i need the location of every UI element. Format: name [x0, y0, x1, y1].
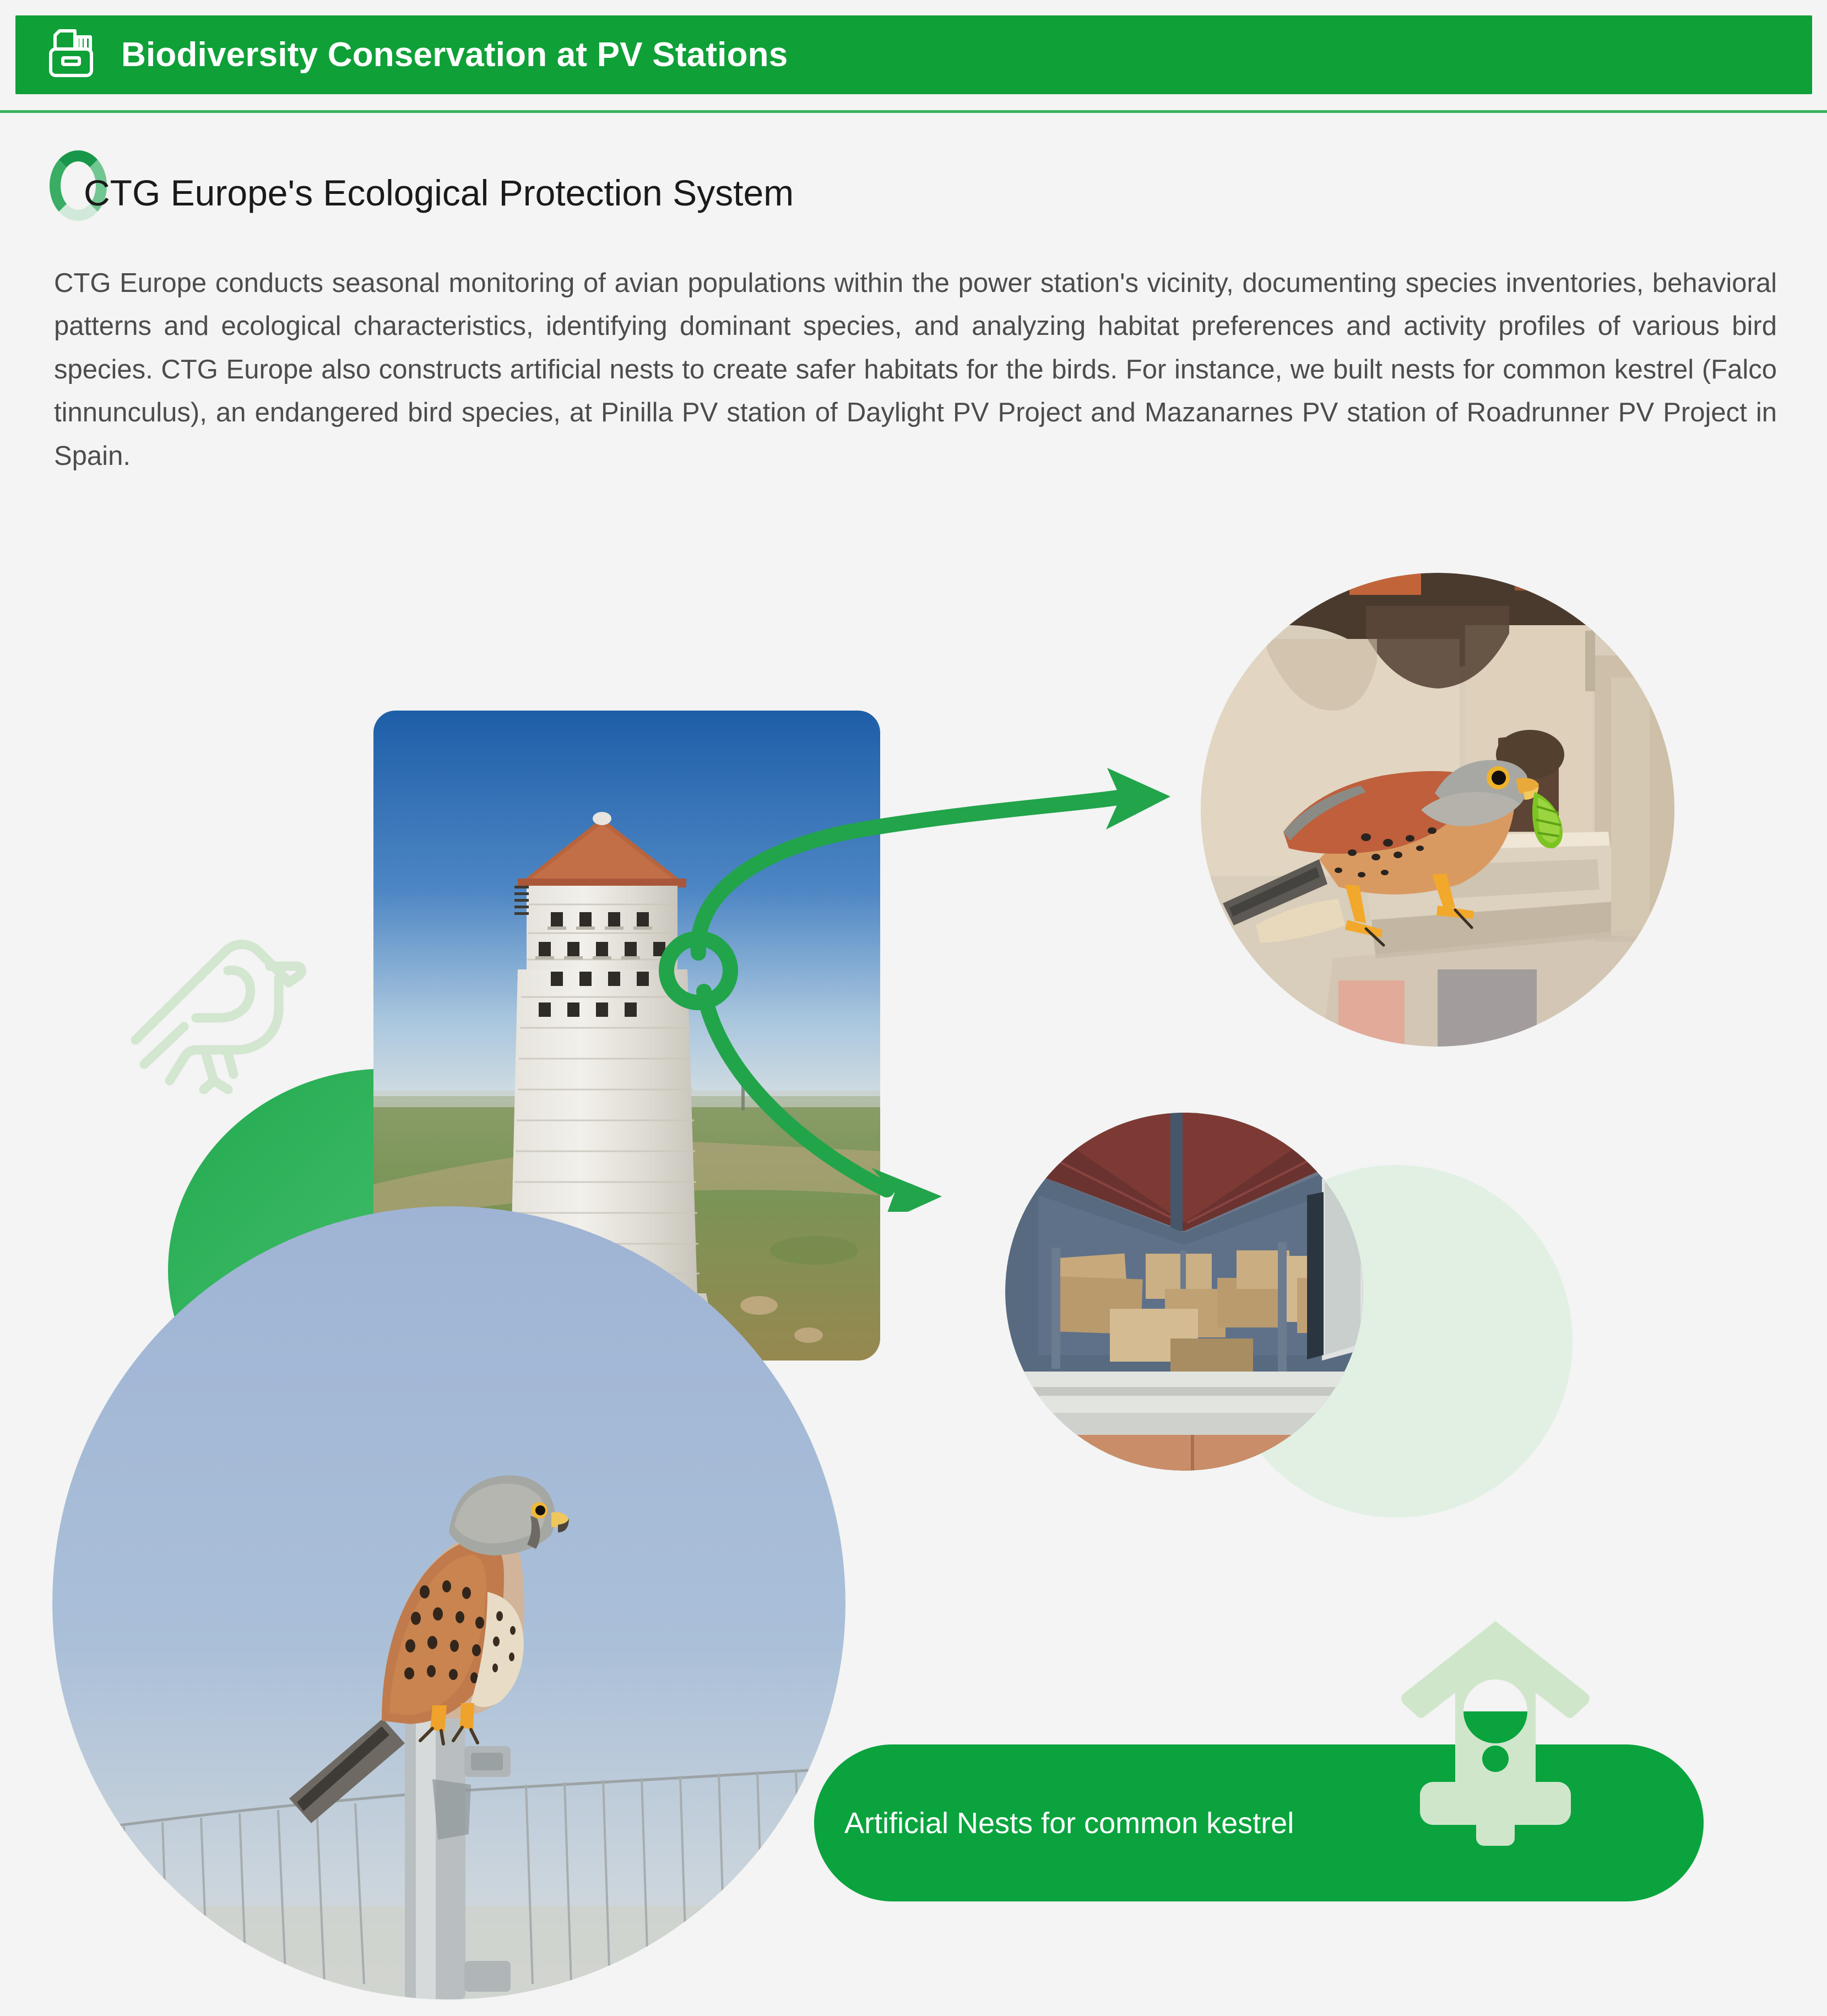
archive-box-icon	[47, 28, 95, 82]
page-header: Biodiversity Conservation at PV Stations	[15, 15, 1812, 94]
header-divider	[0, 110, 1827, 113]
kestrel-on-fence-post-photo	[52, 1206, 845, 1999]
nest-tower-interior-photo	[1005, 1113, 1363, 1471]
kestrel-at-nest-box-photo	[1201, 573, 1674, 1047]
section-body-text: CTG Europe conducts seasonal monitoring …	[54, 262, 1777, 478]
page-root: Biodiversity Conservation at PV Stations…	[0, 0, 1827, 2016]
caption-label: Artificial Nests for common kestrel	[844, 1806, 1294, 1840]
arrow-head-top	[1106, 768, 1170, 830]
arrow-head-bottom	[871, 1168, 942, 1212]
page-title: Biodiversity Conservation at PV Stations	[121, 35, 788, 74]
section-title: CTG Europe's Ecological Protection Syste…	[55, 172, 794, 214]
section-heading: CTG Europe's Ecological Protection Syste…	[55, 162, 794, 223]
caption-banner: Artificial Nests for common kestrel	[814, 1744, 1704, 1901]
